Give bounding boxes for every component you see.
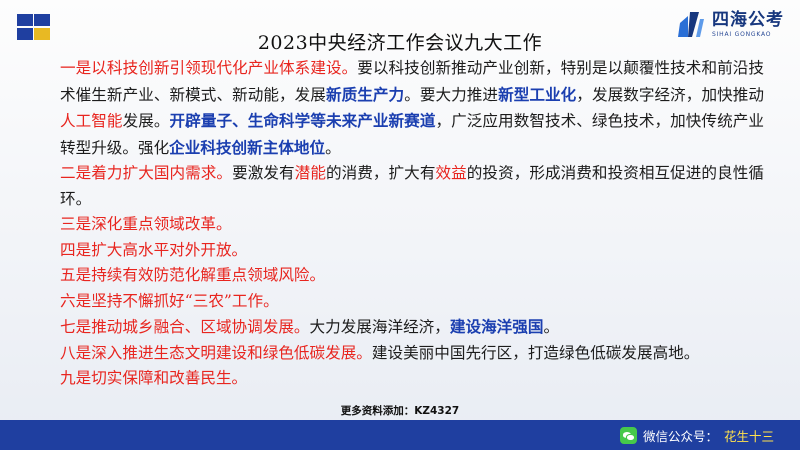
wechat-icon [620, 427, 637, 444]
run-lead-2: 二是着力扩大国内需求。 [60, 164, 232, 182]
paragraph-item-2: 二是着力扩大国内需求。要激发有潜能的消费，扩大有效益的投资，形成消费和投资相互促… [60, 161, 764, 212]
run-lead-1: 一是以科技创新引领现代化产业体系建设。 [60, 59, 357, 77]
run-lead-9: 九是切实保障和改善民生。 [60, 369, 247, 387]
slide-canvas: 四海公考 SIHAI GONGKAO 2023中央经济工作会议九大工作 一是以科… [0, 0, 800, 450]
contact-note: 更多资料添加：KZ4327 [0, 403, 800, 420]
run-1-1: 要以科技创新推动产业创新 [357, 59, 545, 77]
page-title: 2023中央经济工作会议九大工作 [0, 28, 800, 55]
run-7-3: 。 [543, 318, 559, 336]
square-block-2 [34, 14, 50, 26]
run-1-5: 新型工业化 [498, 85, 576, 104]
paragraph-item-4: 四是扩大高水平对外开放。 [60, 238, 764, 264]
run-1-6: ，发展数字经济，加快推动 [576, 86, 764, 104]
run-1-10: 量子、生命科学等未来产业新赛道 [201, 111, 436, 130]
run-lead-7: 七是推动城乡融合、区域协调发展。 [60, 318, 310, 336]
run-lead-6: 六是坚持不懈抓好“三农”工作。 [60, 292, 279, 310]
run-lead-3: 三是深化重点领域改革。 [60, 215, 232, 233]
wechat-credit: 微信公众号： 花生十三 [620, 426, 774, 445]
slide-body: 一是以科技创新引领现代化产业体系建设。要以科技创新推动产业创新，特别是以颠覆性技… [60, 56, 764, 392]
paragraph-item-6: 六是坚持不懈抓好“三农”工作。 [60, 289, 764, 315]
run-1-4: 。要大力推进 [404, 86, 498, 104]
run-lead-5: 五是持续有效防范化解重点领域风险。 [60, 266, 325, 284]
run-2-1: 要激发有 [232, 164, 295, 182]
run-1-7: 人工智能 [60, 112, 123, 130]
paragraph-item-9: 九是切实保障和改善民生。 [60, 366, 764, 392]
run-lead-8: 八是深入推进生态文明建设和绿色低碳发展。 [60, 344, 372, 362]
run-1-12: 企业科技创新主体地位 [169, 138, 325, 157]
wechat-account-name: 花生十三 [724, 426, 774, 445]
run-lead-4: 四是扩大高水平对外开放。 [60, 241, 247, 259]
run-7-2: 建设海洋强国 [450, 317, 544, 336]
run-8-1: 建设美丽中国先行区，打造绿色低碳发展高地。 [372, 344, 699, 362]
wechat-label: 微信公众号： [643, 426, 718, 445]
paragraph-item-5: 五是持续有效防范化解重点领域风险。 [60, 263, 764, 289]
brand-name-cn: 四海公考 [712, 12, 784, 29]
paragraph-item-7: 七是推动城乡融合、区域协调发展。大力发展海洋经济，建设海洋强国。 [60, 314, 764, 341]
square-block-1 [17, 14, 33, 26]
paragraph-item-8: 八是深入推进生态文明建设和绿色低碳发展。建设美丽中国先行区，打造绿色低碳发展高地… [60, 341, 764, 367]
run-1-9: 开辟 [170, 111, 201, 130]
run-1-3: 新质生产力 [326, 85, 404, 104]
run-7-1: 大力发展海洋经济， [310, 318, 450, 336]
paragraph-item-1: 一是以科技创新引领现代化产业体系建设。要以科技创新推动产业创新，特别是以颠覆性技… [60, 56, 764, 161]
run-1-8: 发展。 [123, 112, 170, 130]
run-2-4: 效益 [435, 164, 466, 182]
run-2-2: 潜能 [295, 164, 326, 182]
run-2-3: 的消费，扩大有 [326, 164, 436, 182]
run-1-13: 。 [325, 139, 341, 157]
paragraph-item-3: 三是深化重点领域改革。 [60, 212, 764, 238]
